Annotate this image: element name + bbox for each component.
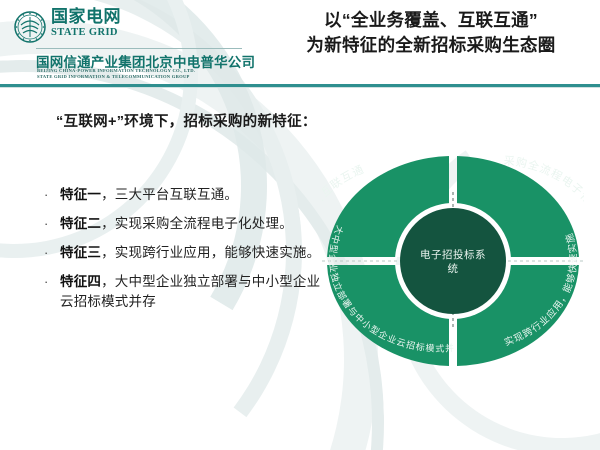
bullet-marker-icon: · [42,185,60,205]
page-title: 以“全业务覆盖、互联互通” 为新特征的全新招标采购生态圈 [268,8,594,59]
bullet-text: 特征三，实现跨行业应用，能够快速实施。 [60,243,320,263]
bullet-lead: 特征一 [60,187,101,202]
page-title-line-1: 以“全业务覆盖、互联互通” [268,8,594,33]
logo-divider [36,48,242,49]
list-item: · 特征二，实现采购全流程电子化处理。 [42,214,324,234]
bullet-lead: 特征三 [60,245,101,260]
page-title-line-2: 为新特征的全新招标采购生态圈 [268,33,594,58]
list-item: · 特征三，实现跨行业应用，能够快速实施。 [42,243,324,263]
subsidiary-en-line-2: STATE GRID INFORMATION & TELECOMMUNICATI… [37,74,190,79]
list-item: · 特征四，大中型企业独立部署与中小型企业云招标模式并存 [42,272,324,312]
donut-center-label-line-1: 电子招投标系 [420,248,486,261]
donut-center-disc[interactable] [400,208,506,314]
donut-diagram: 电子招投标系 统 三大平台互联互通 采购全流程电子化处理 大中型企业独立部署与中… [322,152,584,370]
logo-en-name: STATE GRID [51,26,121,39]
bullet-text: 特征二，实现采购全流程电子化处理。 [60,214,293,234]
bullet-lead: 特征二 [60,216,101,231]
logo-wordmark: 国家电网 STATE GRID [51,8,121,39]
bullet-lead: 特征四 [60,274,101,289]
donut-center-label-line-2: 统 [448,262,459,275]
subsidiary-en-line-1: BEIJING CHINA-POWER INFORMATION TECHNOLO… [37,68,195,73]
feature-bullet-list: · 特征一，三大平台互联互通。 · 特征二，实现采购全流程电子化处理。 · 特征… [42,185,324,321]
bullet-marker-icon: · [42,272,60,292]
section-subtitle: “互联网+”环境下，招标采购的新特征： [56,110,317,131]
slide-header: 国家电网 STATE GRID 国网信通产业集团北京中电普华公司 BEIJING… [0,0,600,84]
bullet-rest: ，实现采购全流程电子化处理。 [101,216,293,231]
logo-cn-name: 国家电网 [51,8,121,26]
bullet-rest: ，实现跨行业应用，能够快速实施。 [101,245,320,260]
list-item: · 特征一，三大平台互联互通。 [42,185,324,205]
header-divider-light [0,87,600,88]
state-grid-emblem-icon [14,11,46,43]
company-logo: 国家电网 STATE GRID [14,8,121,43]
bullet-marker-icon: · [42,214,60,234]
slide-canvas: 国家电网 STATE GRID 国网信通产业集团北京中电普华公司 BEIJING… [0,0,600,450]
bullet-text: 特征四，大中型企业独立部署与中小型企业云招标模式并存 [60,272,324,312]
bullet-marker-icon: · [42,243,60,263]
bullet-text: 特征一，三大平台互联互通。 [60,185,238,205]
bullet-rest: ，三大平台互联互通。 [101,187,238,202]
